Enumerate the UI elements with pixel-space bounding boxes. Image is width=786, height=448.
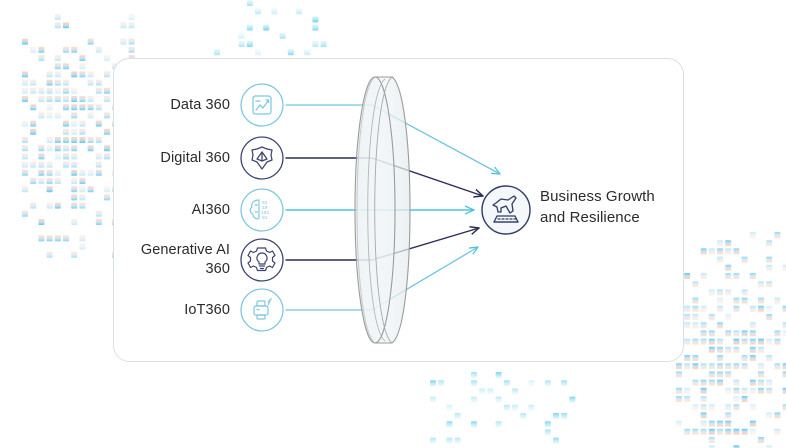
label-data-360: Data 360 xyxy=(80,96,230,115)
label-iot-360: IoT360 xyxy=(80,301,230,320)
svg-text:01: 01 xyxy=(262,215,268,221)
icon-badge-ai-360[interactable]: 01 10 101 01 xyxy=(241,189,283,231)
label-generative-ai-360: Generative AI 360 xyxy=(80,241,230,279)
label-ai-360: AI360 xyxy=(80,201,230,220)
icon-badge-data-360[interactable] xyxy=(241,84,283,126)
iot-device-wifi-icon-ring xyxy=(241,289,283,331)
converging-lens xyxy=(355,77,410,343)
chart-report-icon-ring xyxy=(241,84,283,126)
icon-badge-business-outcome[interactable] xyxy=(482,186,530,234)
gear-lightbulb-icon-ring xyxy=(241,239,283,281)
icon-badge-digital-360[interactable] xyxy=(241,137,283,179)
airplane-takeoff-icon-ring xyxy=(482,186,530,234)
label-business-outcome: Business Growth and Resilience xyxy=(540,186,700,228)
icon-badge-generative-ai-360[interactable] xyxy=(241,239,283,281)
label-digital-360: Digital 360 xyxy=(80,149,230,168)
diagram-stage: 01 10 101 01 xyxy=(0,0,786,448)
icon-badge-iot-360[interactable] xyxy=(241,289,283,331)
